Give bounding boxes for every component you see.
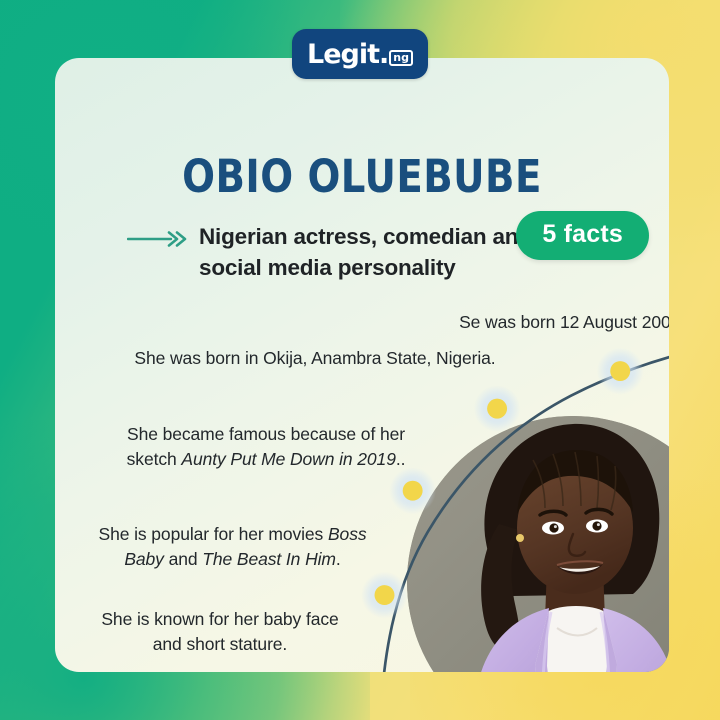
- brand-logo-text: Legit.ng: [307, 41, 413, 68]
- brand-logo[interactable]: Legit.ng: [292, 29, 428, 79]
- fact-birth-date: Se was born 12 August 2004.: [355, 310, 669, 335]
- brand-logo-name: Legit: [307, 41, 379, 68]
- arrow-right-icon: [127, 231, 189, 252]
- timeline-dot-4: [361, 572, 408, 619]
- page-title: OBIO OLUEBUBE: [98, 150, 626, 203]
- fact-movies-lead: She is popular for her movies: [99, 524, 328, 544]
- fact-fame-title: Aunty Put Me Down in 2019: [181, 449, 395, 469]
- fact-birth-place: She was born in Okija, Anambra State, Ni…: [125, 346, 505, 371]
- fact-fame: She became famous because of her sketch …: [125, 422, 407, 472]
- fact-movies-tail: .: [336, 549, 341, 569]
- fact-fame-tail: ..: [396, 449, 406, 469]
- brand-logo-dot: .: [379, 41, 388, 68]
- fact-appearance: She is known for her baby face and short…: [85, 607, 355, 657]
- fact-movies-conjunction: and: [164, 549, 202, 569]
- infographic-canvas: OBIO OLUEBUBE Nigerian actress, comedian…: [0, 0, 720, 720]
- portrait-photo: [407, 416, 669, 672]
- fact-movies-title-2: The Beast In Him: [202, 549, 336, 569]
- portrait-illustration: [407, 416, 669, 672]
- brand-logo-tld: ng: [389, 50, 413, 66]
- content-card: OBIO OLUEBUBE Nigerian actress, comedian…: [55, 58, 669, 672]
- subtitle-line-1: Nigerian actress, comedian and: [199, 224, 532, 249]
- subtitle-line-2: social media personality: [199, 255, 456, 280]
- fact-movies: She is popular for her movies Boss Baby …: [95, 522, 370, 572]
- facts-count-badge: 5 facts: [516, 211, 649, 260]
- timeline-dot-2: [474, 385, 521, 432]
- subtitle-text: Nigerian actress, comedian and social me…: [199, 221, 532, 283]
- timeline-dot-1: [597, 348, 644, 395]
